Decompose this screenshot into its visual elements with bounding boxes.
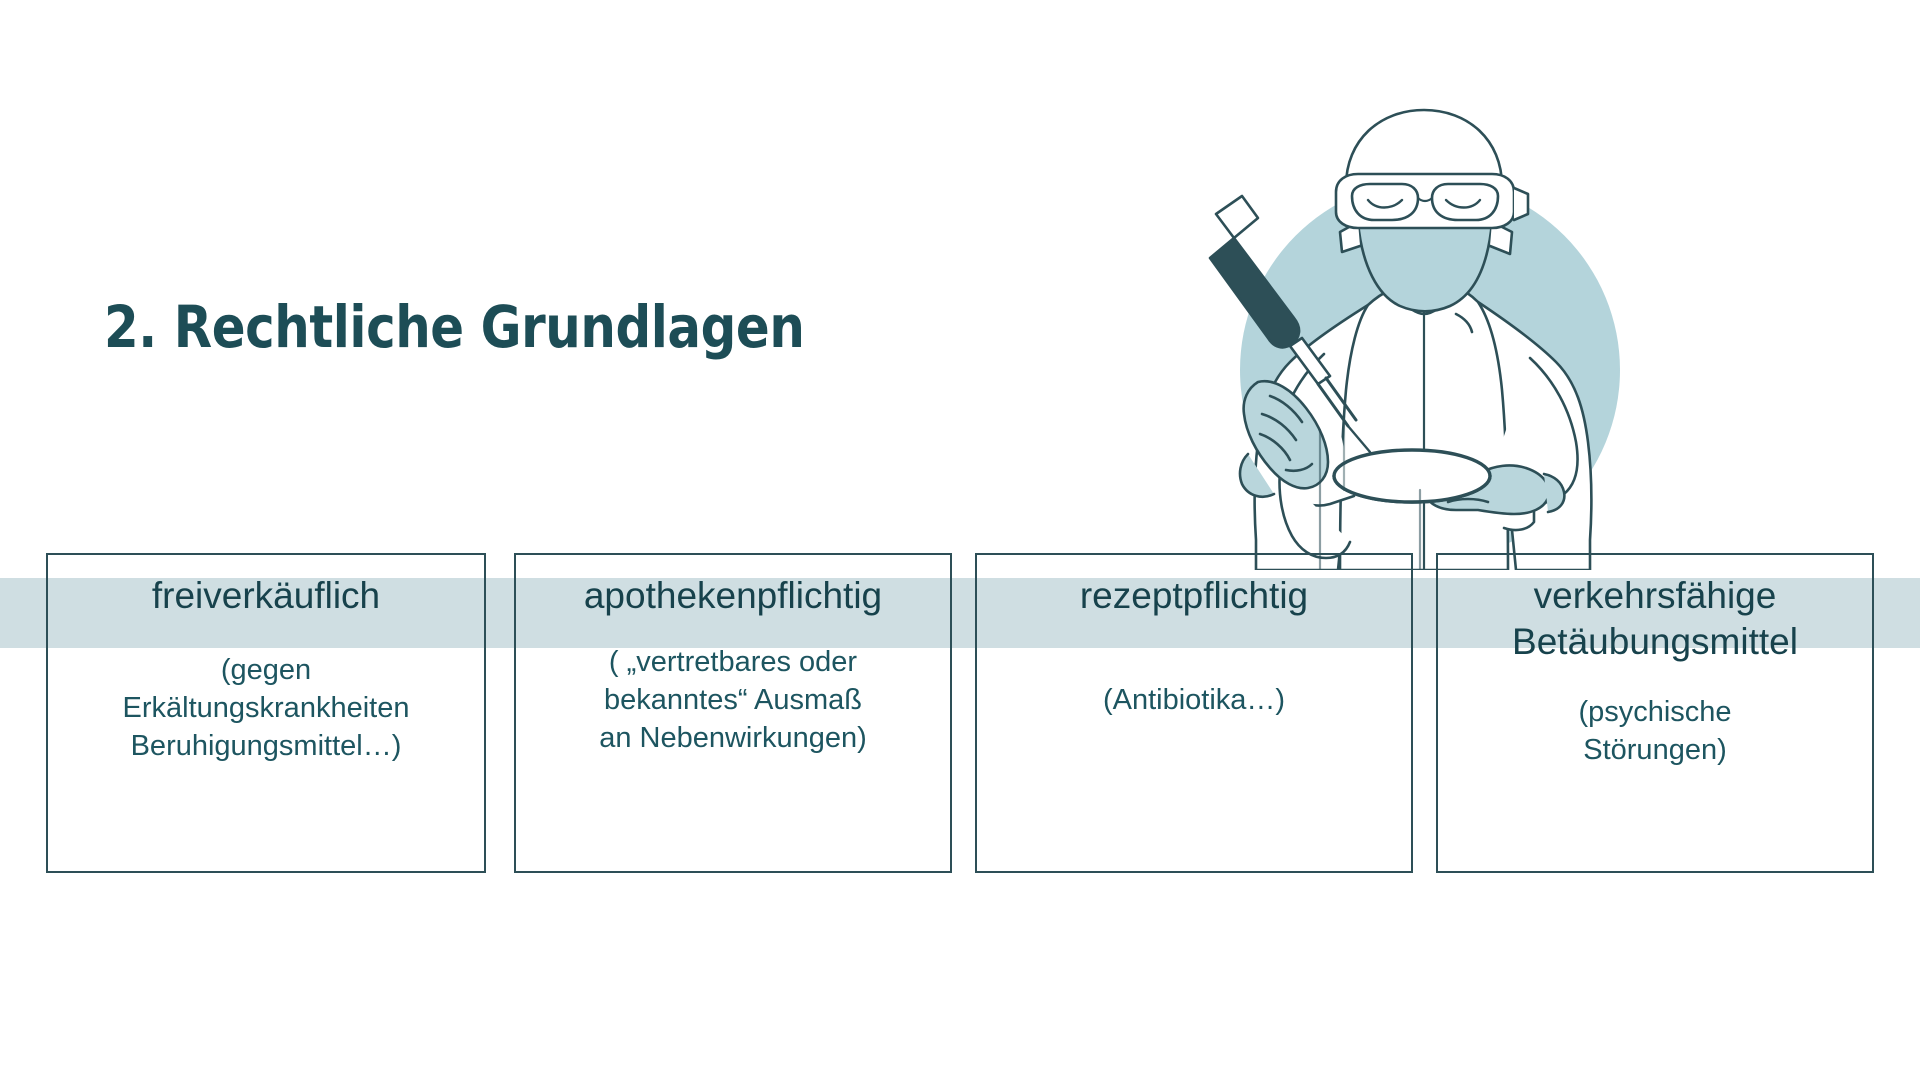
category-box-verkehrsfaehige-betaeubungsmittel[interactable]: verkehrsfähige Betäubungsmittel (psychis… xyxy=(1436,553,1874,873)
page-title: 2. Rechtliche Grundlagen xyxy=(104,297,804,358)
category-body: (gegen Erkältungskrankheiten Beruhigungs… xyxy=(48,651,484,765)
category-header: rezeptpflichtig xyxy=(977,573,1411,619)
lab-scientist-svg xyxy=(1130,70,1650,590)
category-box-content: apothekenpflichtig ( „vertretbares oder … xyxy=(516,555,950,871)
category-body: ( „vertretbares oder bekanntes“ Ausmaß a… xyxy=(516,643,950,757)
slide-canvas: 2. Rechtliche Grundlagen freiverkäuflich… xyxy=(0,0,1920,1080)
category-box-content: rezeptpflichtig (Antibiotika…) xyxy=(977,555,1411,871)
category-body: (psychische Störungen) xyxy=(1438,693,1872,769)
category-box-content: freiverkäuflich (gegen Erkältungskrankhe… xyxy=(48,555,484,871)
illustration-background-circle xyxy=(1240,180,1620,560)
illustration-linework xyxy=(1210,110,1591,570)
category-box-apothekenpflichtig[interactable]: apothekenpflichtig ( „vertretbares oder … xyxy=(514,553,952,873)
lab-scientist-illustration xyxy=(1130,70,1650,590)
category-box-freiverkaeuflich[interactable]: freiverkäuflich (gegen Erkältungskrankhe… xyxy=(46,553,486,873)
category-box-content: verkehrsfähige Betäubungsmittel (psychis… xyxy=(1438,555,1872,871)
category-header: verkehrsfähige Betäubungsmittel xyxy=(1438,573,1872,665)
category-box-rezeptpflichtig[interactable]: rezeptpflichtig (Antibiotika…) xyxy=(975,553,1413,873)
category-header: apothekenpflichtig xyxy=(516,573,950,619)
category-body: (Antibiotika…) xyxy=(977,681,1411,719)
category-header: freiverkäuflich xyxy=(48,573,484,619)
